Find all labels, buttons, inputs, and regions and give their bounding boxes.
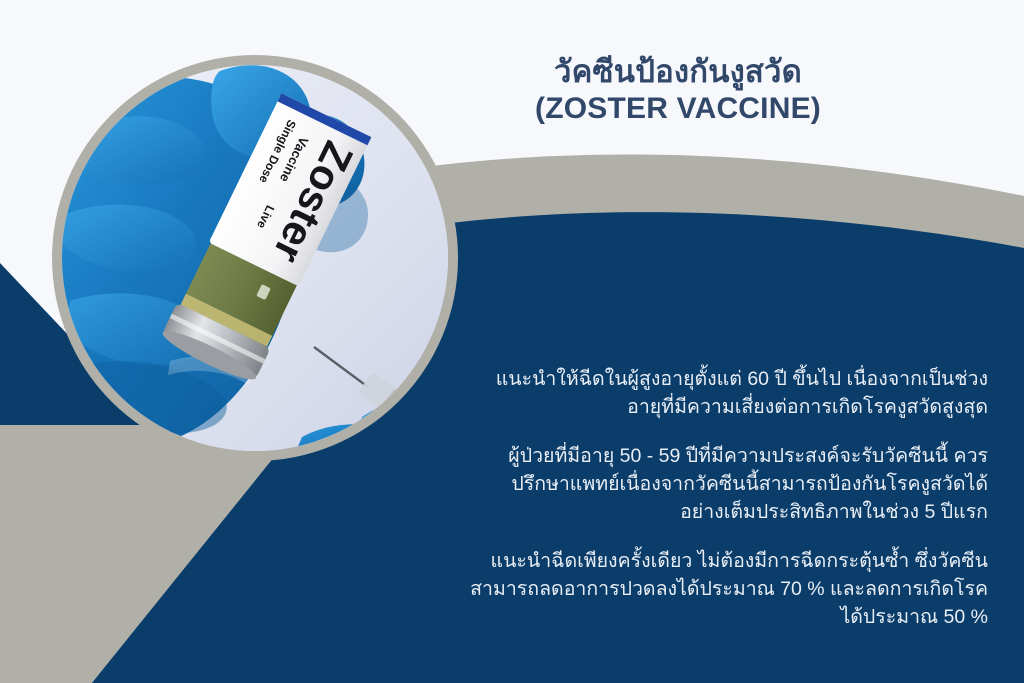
title-thai: วัคซีนป้องกันงูสวัด: [368, 54, 988, 91]
page-title: วัคซีนป้องกันงูสวัด (ZOSTER VACCINE): [368, 54, 988, 126]
poster-canvas: Zoster Vaccine Live Single Dose: [0, 0, 1024, 683]
paragraph-2: ผู้ป่วยที่มีอายุ 50 - 59 ปีที่มีความประส…: [468, 443, 988, 526]
body-copy: แนะนำให้ฉีดในผู้สูงอายุตั้งแต่ 60 ปี ขึ้…: [468, 366, 988, 632]
paragraph-1: แนะนำให้ฉีดในผู้สูงอายุตั้งแต่ 60 ปี ขึ้…: [468, 366, 988, 421]
paragraph-3: แนะนำฉีดเพียงครั้งเดียว ไม่ต้องมีการฉีดก…: [468, 548, 988, 631]
title-english: (ZOSTER VACCINE): [368, 91, 988, 126]
